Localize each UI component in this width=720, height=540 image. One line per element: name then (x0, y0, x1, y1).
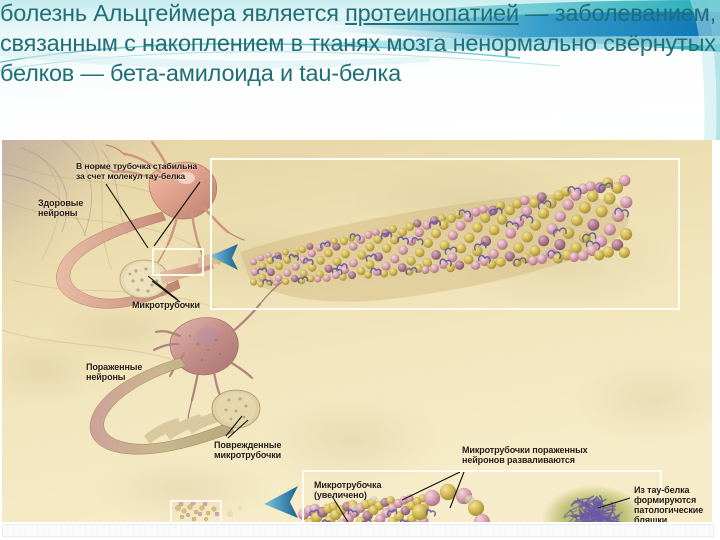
crop-frame-healthy-axon (152, 248, 204, 276)
callout-frame-normal-microtubule (210, 158, 680, 310)
slide-root: болезнь Альцгеймера является протеинопат… (0, 0, 720, 540)
label-microtubules: Микротрубочки (132, 300, 200, 310)
crop-frame-damaged-axon (170, 500, 222, 522)
label-damaged-microtubules: Поврежденные микротрубочки (214, 440, 281, 460)
slide-header: болезнь Альцгеймера является протеинопат… (0, 0, 720, 140)
label-healthy-neurons: Здоровые нейроны (38, 198, 83, 218)
slide-bottom-strip (0, 522, 720, 540)
label-tau-plaques: Из тау-белка формируются патологические … (634, 485, 703, 522)
title-segment-plain-1: болезнь Альцгеймера является (0, 0, 345, 26)
label-affected-neurons: Пораженные нейроны (86, 362, 142, 382)
label-normal-tube-stable: В норме трубочка стабильна за счет молек… (76, 162, 197, 181)
label-microtubules-collapse: Микротрубочки пораженных нейронов развал… (462, 445, 588, 465)
page-title: болезнь Альцгеймера является протеинопат… (0, 0, 718, 88)
title-term-proteinopathy: протеинопатией (345, 0, 519, 26)
alzheimer-illustration: Здоровые нейроны Микротрубочки В норме т… (2, 140, 712, 522)
bottom-hairline (2, 524, 714, 537)
label-microtubule-enlarged: Микротрубочка (увеличено) (314, 480, 381, 500)
